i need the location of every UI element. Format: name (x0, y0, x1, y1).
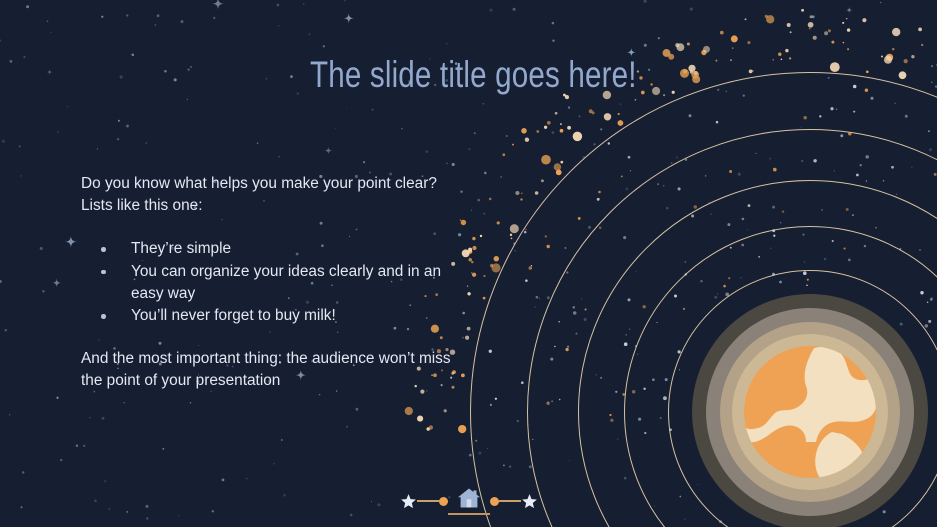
nav-right-group[interactable] (490, 488, 538, 514)
home-button[interactable] (448, 487, 490, 516)
dot-icon[interactable] (490, 497, 499, 506)
list-item-label: They’re simple (131, 240, 231, 257)
nav-connector-line (499, 500, 521, 503)
closing-paragraph: And the most important thing: the audien… (81, 348, 461, 392)
nav-connector-line (417, 500, 439, 503)
dot-icon[interactable] (439, 497, 448, 506)
home-icon[interactable] (457, 487, 481, 509)
presentation-slide: The slide title goes here! Do you know w… (0, 0, 937, 527)
list-item: They’re simple (81, 238, 461, 260)
slide-body: Do you know what helps you make your poi… (81, 173, 461, 393)
intro-paragraph: Do you know what helps you make your poi… (81, 173, 461, 217)
star-icon[interactable] (400, 493, 417, 510)
list-item-label: You can organize your ideas clearly and … (131, 263, 441, 302)
star-icon[interactable] (521, 493, 538, 510)
list-item: You can organize your ideas clearly and … (81, 261, 461, 305)
home-underline (448, 513, 490, 516)
planet-illustration (692, 294, 928, 527)
planet-continents (744, 346, 876, 478)
bullet-list: They’re simple You can organize your ide… (81, 238, 461, 327)
list-item: You’ll never forget to buy milk! (81, 305, 461, 327)
nav-left-group[interactable] (400, 488, 448, 514)
list-item-label: You’ll never forget to buy milk! (131, 307, 336, 324)
bottom-navigation[interactable] (400, 483, 538, 519)
slide-title: The slide title goes here! (310, 52, 637, 98)
